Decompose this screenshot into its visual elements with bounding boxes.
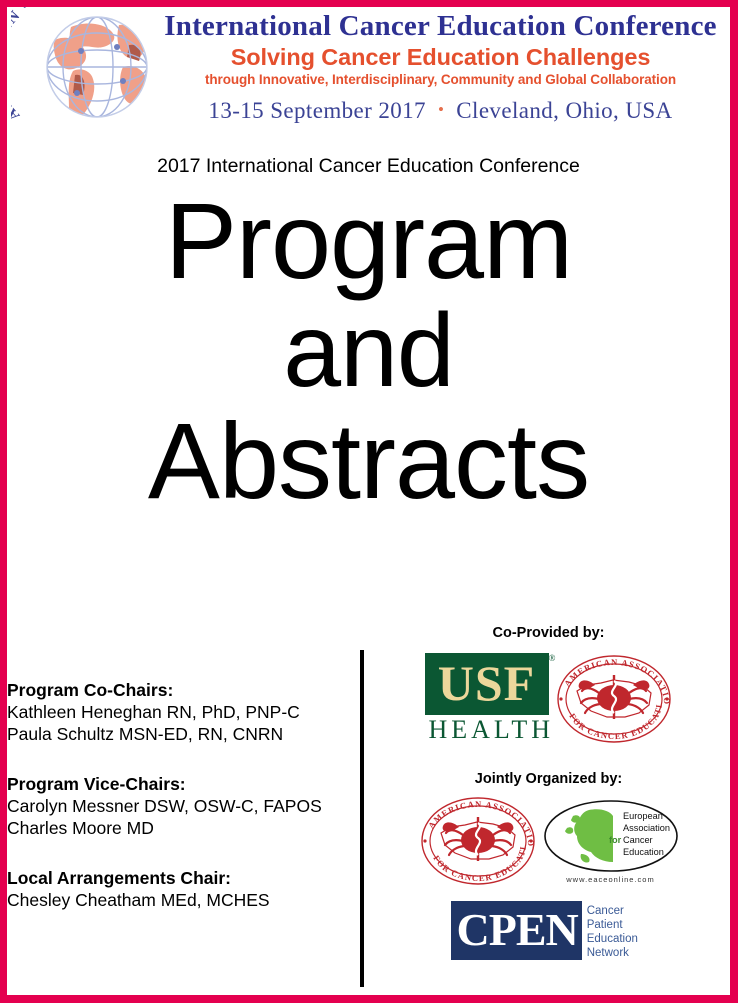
aace-logo: AMERICAN ASSOCIATION FOR CANCER EDUCATIO… — [555, 653, 673, 745]
chair-name: Charles Moore MD — [7, 817, 352, 839]
title-word-program: Program — [7, 187, 730, 295]
cpen-logo: CPEN Cancer Patient Education Network — [451, 901, 647, 960]
cpen-wordmark: Cancer Patient Education Network — [582, 901, 638, 960]
cover-page: AACE · CPEN · EACE International Cancer … — [0, 0, 738, 1003]
chairs-list: Program Co-Chairs: Kathleen Heneghan RN,… — [7, 679, 352, 911]
cpen-word-line: Education — [587, 932, 638, 946]
banner-separator-dot: • — [426, 100, 456, 119]
banner-tagline: Solving Cancer Education Challenges — [159, 43, 722, 71]
chair-name: Kathleen Heneghan RN, PhD, PNP-C — [7, 701, 352, 723]
chair-heading: Local Arrangements Chair: — [7, 867, 352, 889]
svg-text:Education: Education — [623, 847, 664, 857]
coprovided-logo-row: USF ® HEALTH — [367, 653, 730, 745]
conference-subtitle: 2017 International Cancer Education Conf… — [7, 155, 730, 178]
cpen-mark: CPEN — [451, 901, 582, 960]
banner-location: Cleveland, Ohio, USA — [456, 98, 672, 123]
chair-group: Program Vice-Chairs: Carolyn Messner DSW… — [7, 773, 352, 839]
svg-text:Association: Association — [623, 823, 670, 833]
sponsors-column: Co-Provided by: USF ® HEALTH — [367, 625, 730, 995]
conference-globe-logo-icon: AACE · CPEN · EACE — [11, 7, 157, 137]
banner-subtagline: through Innovative, Interdisciplinary, C… — [159, 71, 722, 88]
jointly-logo-row: AMERICAN ASSOCIATION FOR CANCER EDUCATIO… — [367, 795, 730, 887]
eace-url: www.eaceonline.com — [543, 875, 679, 884]
usf-mark: USF — [425, 653, 549, 715]
vertical-divider — [360, 650, 364, 987]
chair-name: Paula Schultz MSN-ED, RN, CNRN — [7, 723, 352, 745]
chair-group: Program Co-Chairs: Kathleen Heneghan RN,… — [7, 679, 352, 745]
aace-logo: AMERICAN ASSOCIATION FOR CANCER EDUCATIO… — [419, 795, 537, 887]
svg-text:European: European — [623, 811, 663, 821]
svg-text:Cancer: Cancer — [623, 835, 653, 845]
jointly-organized-by-label: Jointly Organized by: — [367, 771, 730, 787]
usf-health-logo: USF ® HEALTH — [425, 653, 549, 745]
chair-name: Chesley Cheatham MEd, MCHES — [7, 889, 352, 911]
chair-heading: Program Co-Chairs: — [7, 679, 352, 701]
svg-text:for: for — [609, 835, 622, 845]
cpen-logo-row: CPEN Cancer Patient Education Network — [367, 901, 730, 960]
banner-text-block: International Cancer Education Conferenc… — [159, 9, 722, 128]
conference-banner: AACE · CPEN · EACE International Cancer … — [7, 7, 730, 135]
banner-dates-location: 13-15 September 2017•Cleveland, Ohio, US… — [159, 93, 722, 128]
chair-heading: Program Vice-Chairs: — [7, 773, 352, 795]
eace-logo: European Association for Cancer Educatio… — [543, 798, 679, 884]
chair-name: Carolyn Messner DSW, OSW-C, FAPOS — [7, 795, 352, 817]
title-word-and: and — [7, 299, 730, 403]
usf-health-word: HEALTH — [425, 715, 549, 745]
title-word-abstracts: Abstracts — [7, 407, 730, 515]
cpen-word-line: Cancer — [587, 904, 638, 918]
page-title: Program and Abstracts — [7, 187, 730, 515]
coprovided-by-label: Co-Provided by: — [367, 625, 730, 641]
cpen-word-line: Network — [587, 946, 638, 960]
chair-group: Local Arrangements Chair: Chesley Cheath… — [7, 867, 352, 911]
banner-title: International Cancer Education Conferenc… — [159, 9, 722, 43]
page-sheet: AACE · CPEN · EACE International Cancer … — [7, 7, 730, 995]
cpen-word-line: Patient — [587, 918, 638, 932]
banner-dates: 13-15 September 2017 — [208, 98, 426, 123]
